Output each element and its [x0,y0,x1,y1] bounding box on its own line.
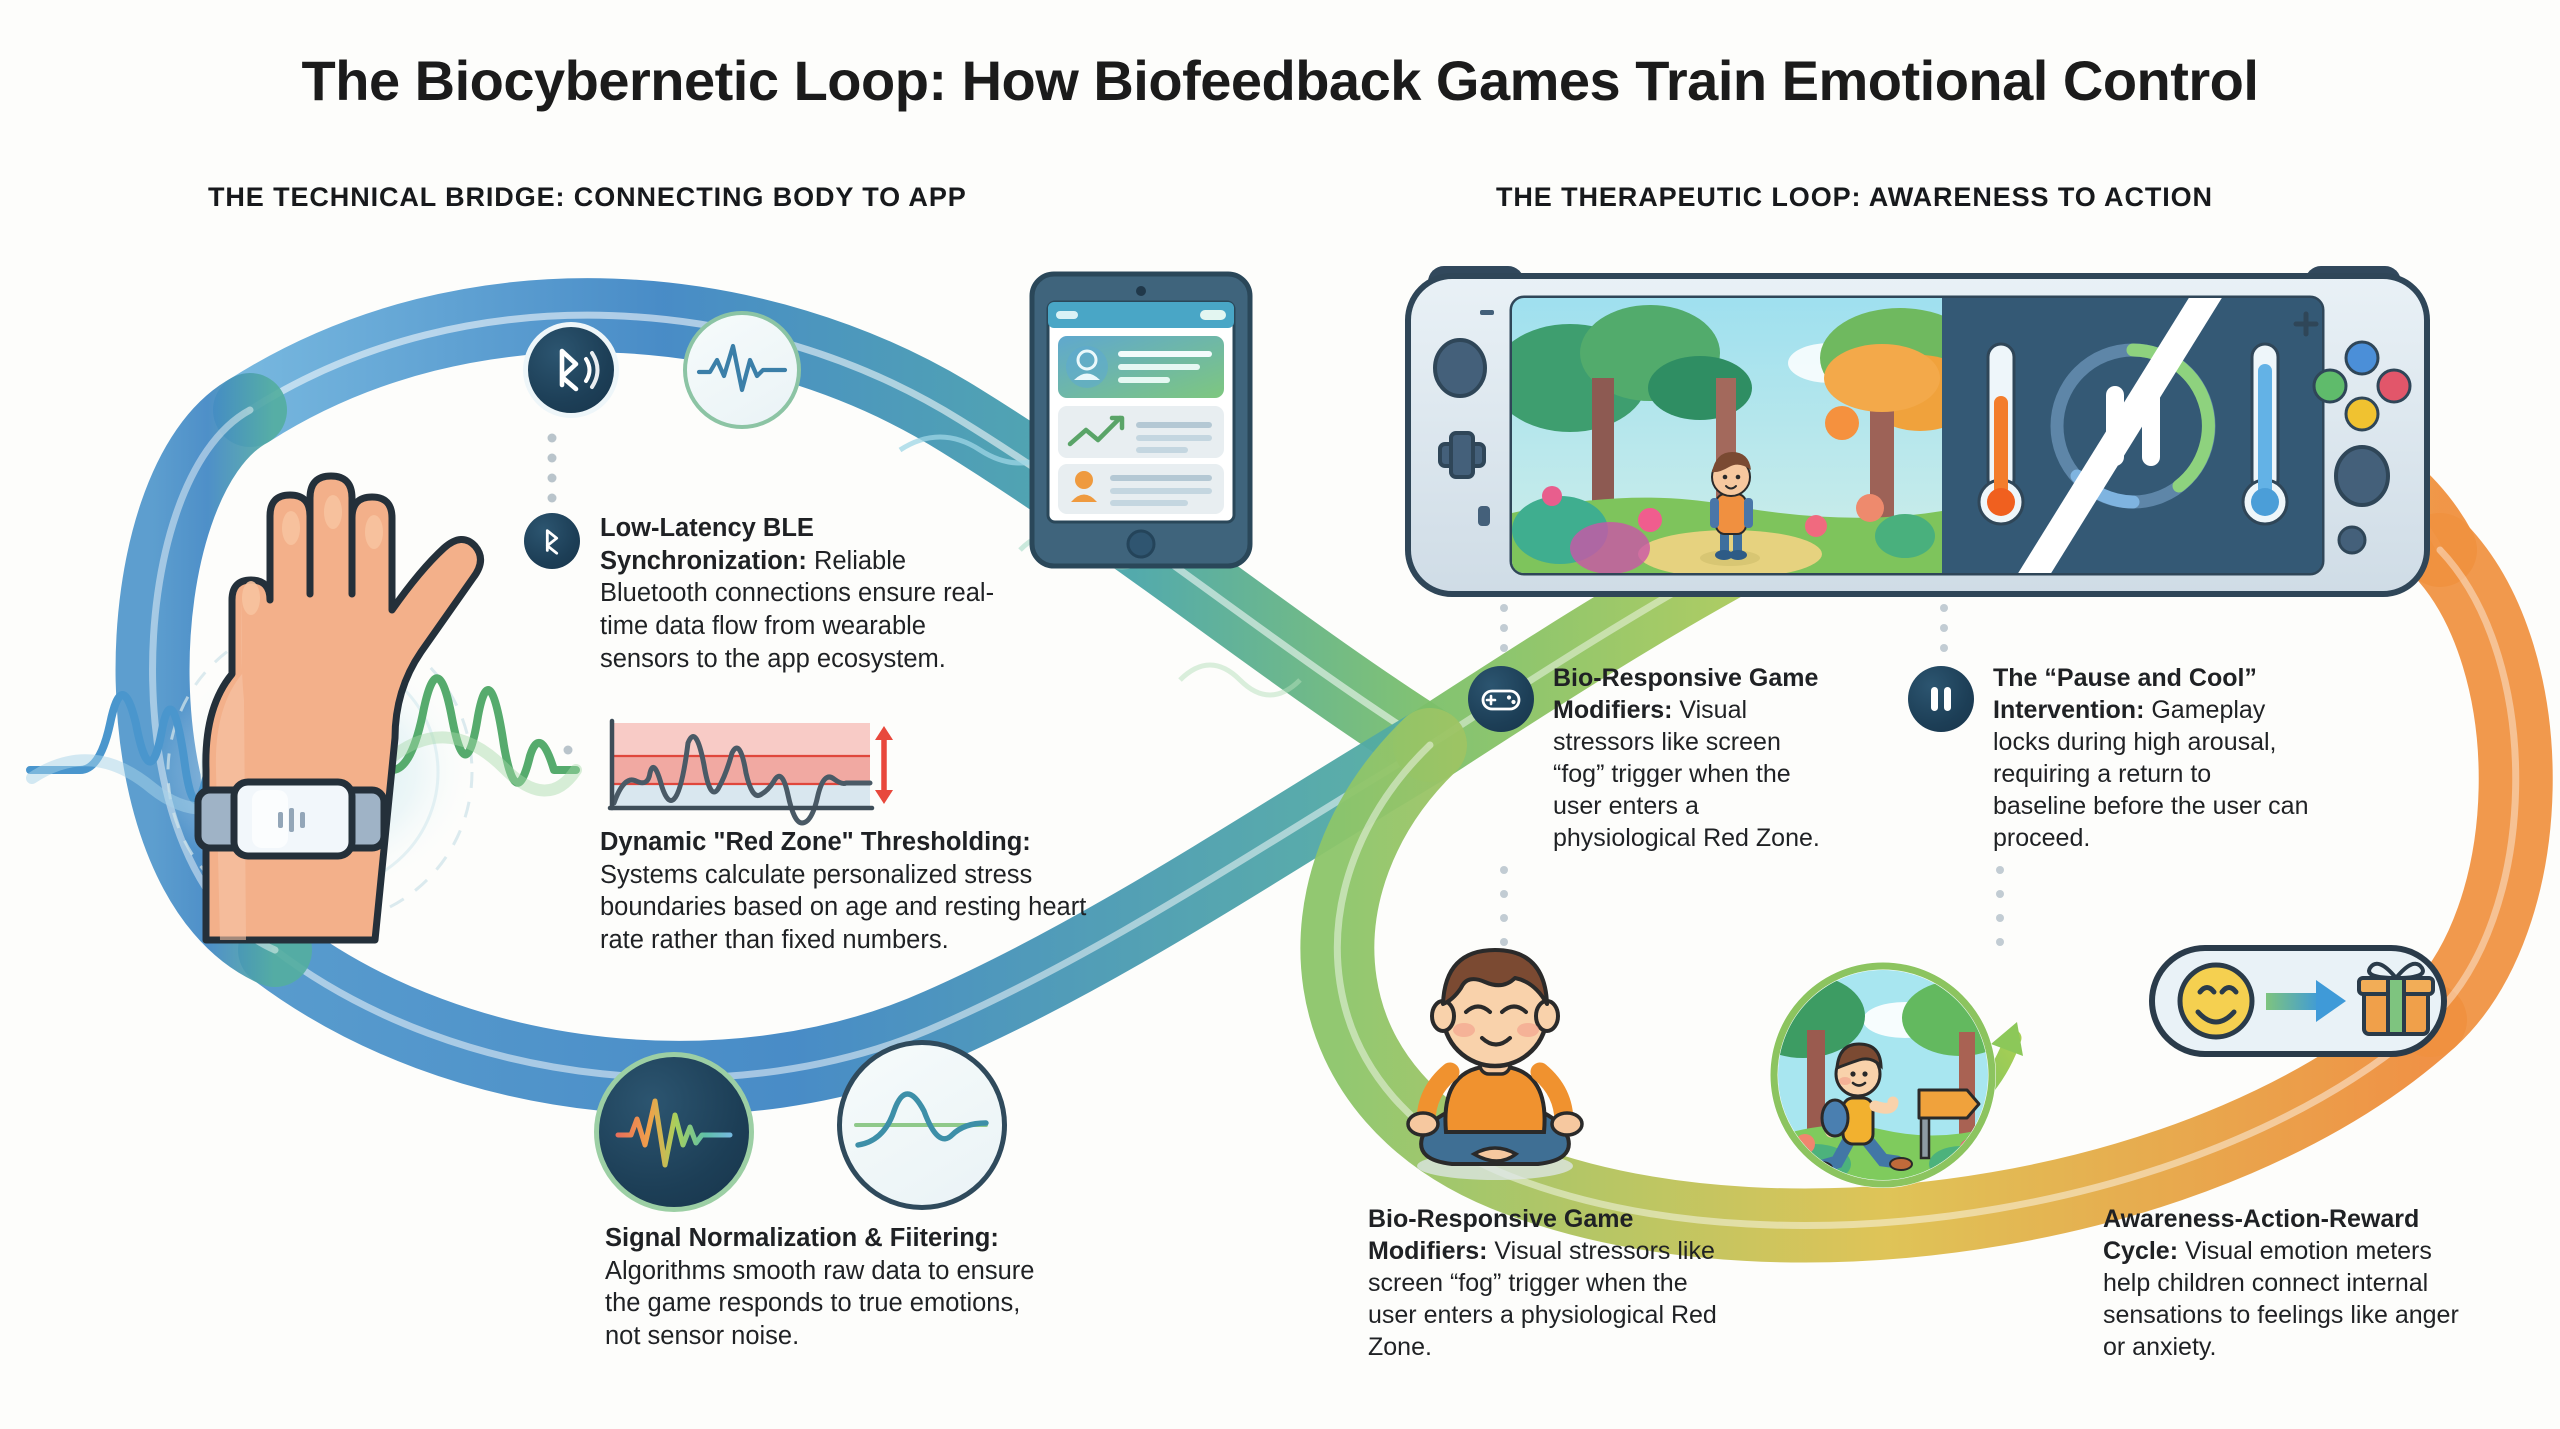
bluetooth-icon [542,341,600,399]
waveform-node[interactable] [683,311,801,429]
dotted-connector-pause [1936,600,1952,666]
heartbeat-icon [615,1093,733,1171]
callout-reward: Awareness-Action-Reward Cycle: Visual em… [2103,1203,2471,1363]
handheld-console[interactable] [1400,258,2435,608]
gamepad-icon [1481,685,1521,713]
tablet-app-mockup[interactable] [1030,272,1252,568]
bluetooth-icon [537,526,567,556]
infographic-canvas: The Biocybernetic Loop: How Biofeedback … [0,0,2560,1429]
wrist-sensor-icon [198,782,384,856]
dotted-connector-redzone [548,730,588,770]
heartbeat-node[interactable] [594,1052,754,1212]
smiley-icon [2180,965,2252,1037]
red-zone-threshold-chart [598,718,898,814]
page-title: The Biocybernetic Loop: How Biofeedback … [0,48,2560,113]
callout-bio-bottom: Bio-Responsive Game Modifiers: Visual st… [1368,1203,1736,1363]
sine-wave-icon [852,1083,992,1167]
callout-signal-body: Algorithms smooth raw data to ensure the… [605,1257,1034,1350]
awareness-reward-pill[interactable] [2148,942,2448,1060]
gamepad-node[interactable] [1468,666,1534,732]
callout-pause: The “Pause and Cool” Intervention: Gamep… [1993,662,2311,854]
hand-with-wearable-sensor [20,300,580,940]
waveform-icon [696,340,788,400]
sine-wave-node[interactable] [837,1040,1007,1210]
callout-signal-heading: Signal Normalization & Fiitering: [605,1224,999,1252]
bluetooth-bullet-node[interactable] [524,513,580,569]
callout-ble-heading: Low-Latency BLE Synchronization: [600,514,814,575]
threshold-range-arrow [875,726,893,804]
progress-scene-node[interactable] [1755,940,2045,1210]
callout-ble: Low-Latency BLE Synchronization: Reliabl… [600,512,1000,675]
callout-red-zone: Dynamic "Red Zone" Thresholding: Systems… [600,826,1100,957]
dotted-connector-bio [1496,600,1512,666]
bluetooth-node[interactable] [523,322,619,418]
meditating-child-illustration [1370,920,1620,1190]
callout-bio-top: Bio-Responsive Game Modifiers: Visual st… [1553,662,1833,854]
pause-icon [1928,684,1954,714]
callout-red-zone-heading: Dynamic "Red Zone" Thresholding: [600,828,1031,856]
callout-red-zone-body: Systems calculate personalized stress bo… [600,861,1086,954]
pause-node[interactable] [1908,666,1974,732]
callout-signal: Signal Normalization & Fiitering: Algori… [605,1222,1050,1353]
